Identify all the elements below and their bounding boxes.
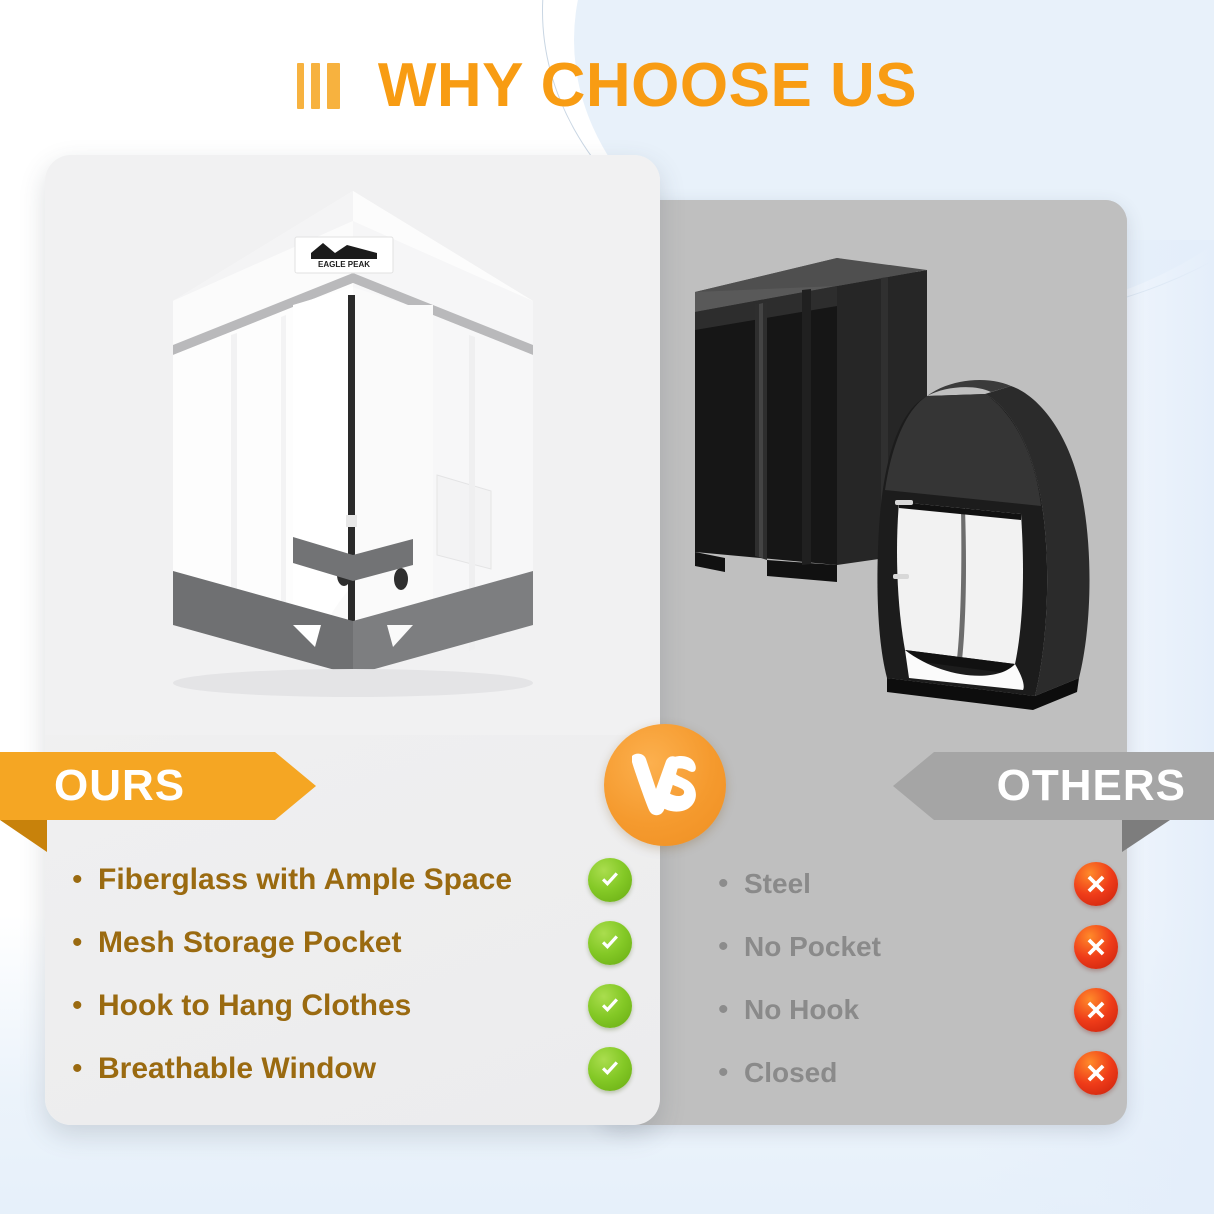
bullet-icon: • <box>718 869 744 899</box>
infographic-canvas: WHY CHOOSE US <box>0 0 1214 1214</box>
check-circle-icon <box>588 1047 632 1091</box>
check-circle-icon <box>588 984 632 1028</box>
bullet-icon: • <box>72 865 98 895</box>
check-circle-icon <box>588 921 632 965</box>
ours-ribbon-tail <box>0 820 47 852</box>
ours-product-image: EAGLE PEAK <box>45 155 660 735</box>
vs-lettering-icon <box>622 742 708 828</box>
feature-label: Closed <box>744 1057 1074 1089</box>
list-item: • Steel <box>718 852 1118 915</box>
feature-label: No Pocket <box>744 931 1074 963</box>
bullet-icon: • <box>72 928 98 958</box>
list-item: • Closed <box>718 1041 1118 1104</box>
bullet-icon: • <box>72 1054 98 1084</box>
three-vertical-bars-icon <box>297 63 340 109</box>
feature-label: No Hook <box>744 994 1074 1026</box>
check-circle-icon <box>588 858 632 902</box>
x-circle-icon <box>1074 862 1118 906</box>
list-item: • Fiberglass with Ample Space <box>72 848 632 911</box>
vs-badge <box>604 724 726 846</box>
feature-label: Mesh Storage Pocket <box>98 926 588 960</box>
x-circle-icon <box>1074 925 1118 969</box>
list-item: • No Pocket <box>718 915 1118 978</box>
bullet-icon: • <box>718 932 744 962</box>
list-item: • Hook to Hang Clothes <box>72 974 632 1037</box>
list-item: • Mesh Storage Pocket <box>72 911 632 974</box>
feature-label: Steel <box>744 868 1074 900</box>
list-item: • Breathable Window <box>72 1037 632 1100</box>
feature-label: Breathable Window <box>98 1052 588 1086</box>
x-circle-icon <box>1074 1051 1118 1095</box>
x-circle-icon <box>1074 988 1118 1032</box>
ours-ribbon-label: OURS <box>54 752 185 820</box>
feature-label: Fiberglass with Ample Space <box>98 863 588 897</box>
page-header: WHY CHOOSE US <box>0 44 1214 128</box>
bullet-icon: • <box>72 991 98 1021</box>
page-title: WHY CHOOSE US <box>378 55 917 117</box>
bullet-icon: • <box>718 1058 744 1088</box>
others-product-image <box>597 200 1127 745</box>
others-feature-list: • Steel • No Pocket • No Hook • Closed <box>718 852 1118 1104</box>
ours-feature-list: • Fiberglass with Ample Space • Mesh Sto… <box>72 848 632 1100</box>
bullet-icon: • <box>718 995 744 1025</box>
others-ribbon-label: OTHERS <box>997 752 1186 820</box>
svg-text:EAGLE PEAK: EAGLE PEAK <box>318 260 370 269</box>
feature-label: Hook to Hang Clothes <box>98 989 588 1023</box>
list-item: • No Hook <box>718 978 1118 1041</box>
